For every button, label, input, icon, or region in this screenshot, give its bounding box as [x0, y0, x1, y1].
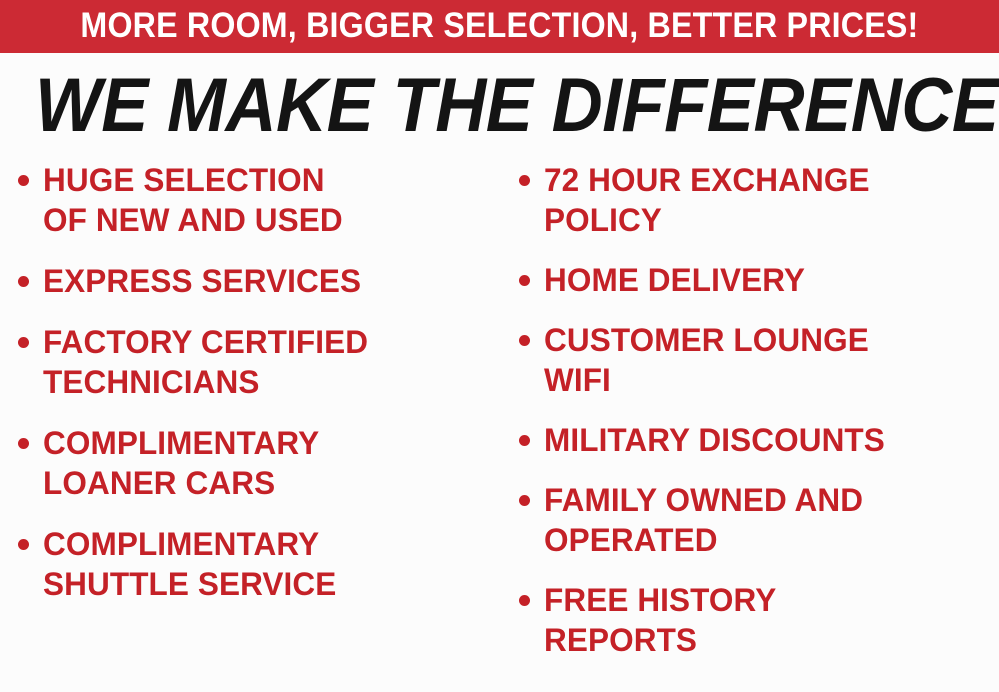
page-title: WE MAKE THE DIFFERENCE: [35, 64, 964, 148]
list-item: COMPLIMENTARY LOANER CARS: [18, 423, 500, 503]
list-item: COMPLIMENTARY SHUTTLE SERVICE: [18, 524, 500, 604]
bullet-dot-icon: [519, 435, 530, 446]
list-item-label: COMPLIMENTARY LOANER CARS: [43, 423, 493, 503]
benefits-columns: HUGE SELECTION OF NEW AND USED EXPRESS S…: [0, 160, 999, 692]
list-item-label: FACTORY CERTIFIED TECHNICIANS: [43, 322, 493, 402]
list-item-label: COMPLIMENTARY SHUTTLE SERVICE: [43, 524, 493, 604]
benefits-column-left: HUGE SELECTION OF NEW AND USED EXPRESS S…: [0, 160, 500, 604]
promo-poster: MORE ROOM, BIGGER SELECTION, BETTER PRIC…: [0, 0, 999, 692]
list-item-label: FREE HISTORY REPORTS: [544, 580, 992, 660]
list-item: FACTORY CERTIFIED TECHNICIANS: [18, 322, 500, 402]
bullet-dot-icon: [18, 276, 29, 287]
banner-headline-text: MORE ROOM, BIGGER SELECTION, BETTER PRIC…: [80, 8, 918, 45]
list-item-label: CUSTOMER LOUNGE WIFI: [544, 320, 992, 400]
list-item: HUGE SELECTION OF NEW AND USED: [18, 160, 500, 240]
list-item-label: 72 HOUR EXCHANGE POLICY: [544, 160, 992, 240]
list-item: MILITARY DISCOUNTS: [519, 420, 999, 460]
list-item: 72 HOUR EXCHANGE POLICY: [519, 160, 999, 240]
bullet-dot-icon: [519, 175, 530, 186]
list-item-label: MILITARY DISCOUNTS: [544, 420, 992, 460]
bullet-dot-icon: [519, 335, 530, 346]
bullet-dot-icon: [18, 438, 29, 449]
list-item: FREE HISTORY REPORTS: [519, 580, 999, 660]
bullet-dot-icon: [18, 337, 29, 348]
list-item-label: FAMILY OWNED AND OPERATED: [544, 480, 992, 560]
benefits-column-right: 72 HOUR EXCHANGE POLICY HOME DELIVERY CU…: [500, 160, 999, 680]
list-item-label: EXPRESS SERVICES: [43, 261, 493, 301]
list-item-label: HOME DELIVERY: [544, 260, 992, 300]
list-item-label: HUGE SELECTION OF NEW AND USED: [43, 160, 493, 240]
list-item: CUSTOMER LOUNGE WIFI: [519, 320, 999, 400]
bullet-dot-icon: [18, 175, 29, 186]
top-banner: MORE ROOM, BIGGER SELECTION, BETTER PRIC…: [0, 0, 999, 53]
list-item: FAMILY OWNED AND OPERATED: [519, 480, 999, 560]
bullet-dot-icon: [18, 539, 29, 550]
bullet-dot-icon: [519, 595, 530, 606]
bullet-dot-icon: [519, 275, 530, 286]
list-item: EXPRESS SERVICES: [18, 261, 500, 301]
list-item: HOME DELIVERY: [519, 260, 999, 300]
bullet-dot-icon: [519, 495, 530, 506]
